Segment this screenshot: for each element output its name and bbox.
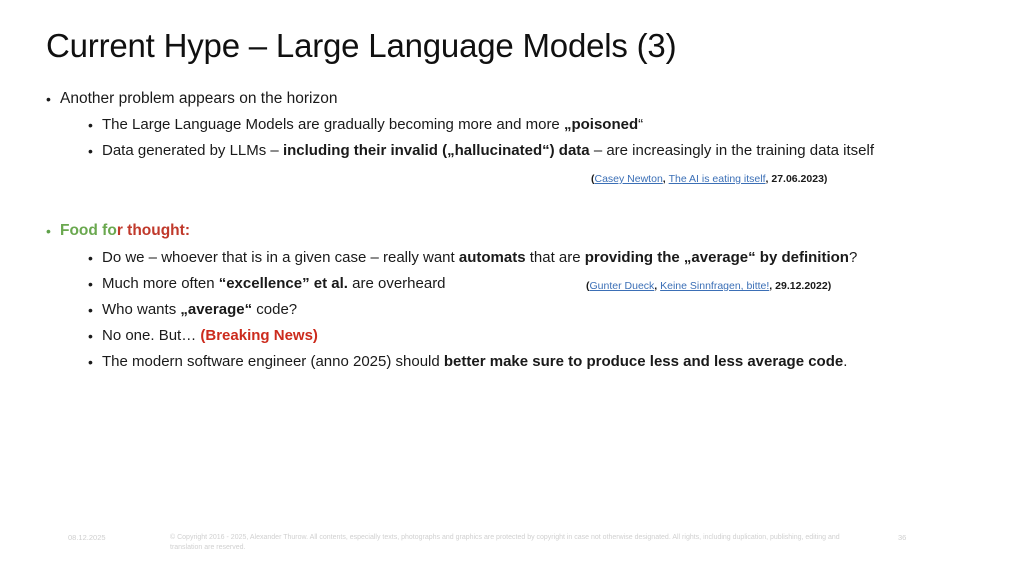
text-fragment-red: r thought: <box>117 222 190 239</box>
text-fragment: Do we – whoever that is in a given case … <box>102 249 459 266</box>
bullet-text: The Large Language Models are gradually … <box>102 114 643 136</box>
text-fragment: code? <box>252 301 297 318</box>
text-fragment: that are <box>526 249 585 266</box>
bullet-modern-software-engineer: • The modern software engineer (anno 202… <box>46 351 847 373</box>
footer-copyright: © Copyright 2016 - 2025, Alexander Thuro… <box>170 533 860 553</box>
bullet-icon: • <box>88 299 102 321</box>
bullet-data-generated: • Data generated by LLMs – including the… <box>46 140 874 162</box>
bullet-text: Another problem appears on the horizon <box>60 88 337 110</box>
citation-date: 27.06.2023 <box>771 173 824 185</box>
text-fragment: No one. But… <box>102 327 200 344</box>
text-fragment-quote-close: “ <box>638 116 643 133</box>
text-fragment-bold: poisoned <box>571 116 638 133</box>
text-fragment-bold: better make sure to produce less and les… <box>444 353 843 370</box>
citation-date: 29.12.2022 <box>775 280 828 292</box>
text-fragment: The Large Language Models are gradually … <box>102 116 564 133</box>
bullet-icon: • <box>88 273 102 295</box>
text-fragment-bold: „average“ <box>180 301 252 318</box>
text-fragment: . <box>843 353 847 370</box>
bullet-text: Data generated by LLMs – including their… <box>102 140 874 162</box>
slide-canvas: Current Hype – Large Language Models (3)… <box>0 0 1024 575</box>
text-fragment: – are increasingly in the training data … <box>590 142 874 159</box>
citation-close: ) <box>824 173 828 185</box>
bullet-icon: • <box>88 351 102 373</box>
bullet-text: Who wants „average“ code? <box>102 299 297 321</box>
slide-footer: 08.12.2025 © Copyright 2016 - 2025, Alex… <box>0 527 1024 563</box>
text-fragment-green: Food fo <box>60 222 117 239</box>
bullet-poisoned: • The Large Language Models are graduall… <box>46 114 643 136</box>
text-fragment: Who wants <box>102 301 180 318</box>
bullet-icon: • <box>88 140 102 162</box>
bullet-text: Food for thought: <box>60 220 190 242</box>
footer-date: 08.12.2025 <box>68 533 106 543</box>
text-fragment-red: (Breaking News) <box>200 327 318 344</box>
text-fragment-bold: including their invalid („hallucinated“)… <box>283 142 590 159</box>
footer-page-number: 36 <box>898 533 906 543</box>
bullet-icon: • <box>46 220 60 242</box>
citation-title-link[interactable]: Keine Sinnfragen, bitte! <box>660 280 769 292</box>
bullet-text: No one. But… (Breaking News) <box>102 325 318 347</box>
citation-gunter-dueck: (Gunter Dueck, Keine Sinnfragen, bitte!,… <box>586 280 831 292</box>
citation-title-link[interactable]: The AI is eating itself <box>669 173 766 185</box>
text-fragment: Data generated by LLMs – <box>102 142 283 159</box>
bullet-another-problem: • Another problem appears on the horizon <box>46 88 337 110</box>
bullet-food-for-thought: • Food for thought: <box>46 220 190 242</box>
text-fragment: ? <box>849 249 857 266</box>
citation-author-link[interactable]: Gunter Dueck <box>590 280 655 292</box>
bullet-icon: • <box>88 114 102 136</box>
page-title: Current Hype – Large Language Models (3) <box>46 27 676 65</box>
text-fragment: are overheard <box>348 275 446 292</box>
text-fragment-bold: providing the „average“ by definition <box>585 249 849 266</box>
bullet-text: Do we – whoever that is in a given case … <box>102 247 857 269</box>
text-fragment-bold: “excellence” et al. <box>219 275 348 292</box>
text-fragment-bold: automats <box>459 249 526 266</box>
text-fragment: Much more often <box>102 275 219 292</box>
bullet-text: The modern software engineer (anno 2025)… <box>102 351 847 373</box>
text-fragment: The modern software engineer (anno 2025)… <box>102 353 444 370</box>
citation-close: ) <box>828 280 832 292</box>
bullet-do-we-automats: • Do we – whoever that is in a given cas… <box>46 247 857 269</box>
bullet-text: Much more often “excellence” et al. are … <box>102 273 446 295</box>
citation-author-link[interactable]: Casey Newton <box>595 173 663 185</box>
bullet-icon: • <box>88 247 102 269</box>
bullet-icon: • <box>88 325 102 347</box>
bullet-no-one-breaking-news: • No one. But… (Breaking News) <box>46 325 318 347</box>
citation-casey-newton: (Casey Newton, The AI is eating itself, … <box>591 173 827 185</box>
bullet-who-wants-average: • Who wants „average“ code? <box>46 299 297 321</box>
bullet-icon: • <box>46 88 60 110</box>
bullet-excellence: • Much more often “excellence” et al. ar… <box>46 273 446 295</box>
